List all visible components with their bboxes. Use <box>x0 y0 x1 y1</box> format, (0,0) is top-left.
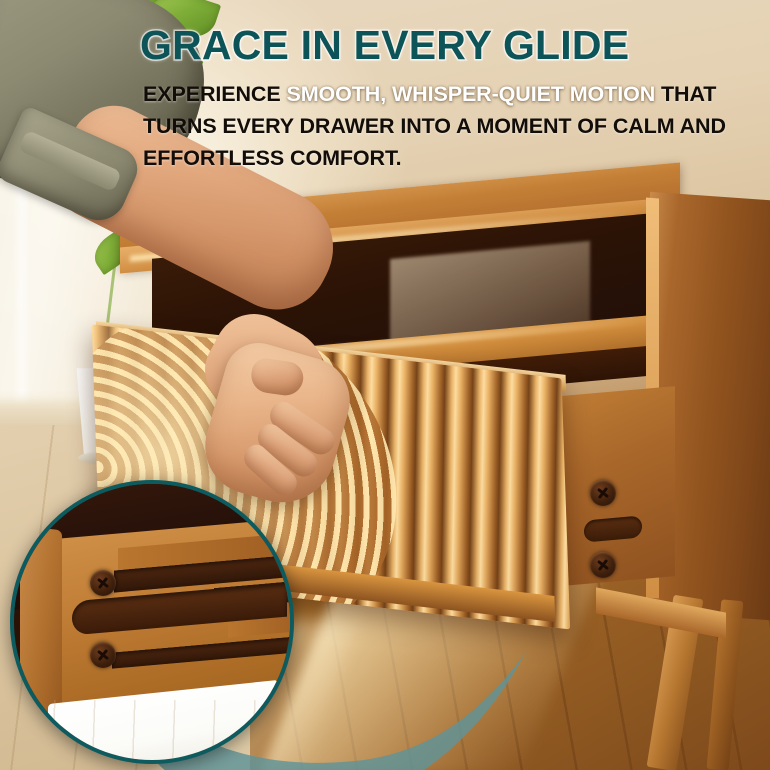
finger-thumb <box>249 357 305 398</box>
subheadline-part1: EXPERIENCE <box>143 82 286 106</box>
subheadline-highlight: SMOOTH, WHISPER-QUIET MOTION <box>286 82 655 106</box>
product-feature-poster: GRACE IN EVERY GLIDE EXPERIENCE SMOOTH, … <box>0 0 770 770</box>
screw-icon <box>590 480 616 506</box>
page-title: GRACE IN EVERY GLIDE <box>140 22 760 69</box>
window-mullion <box>18 160 25 410</box>
inset-floor-lines <box>14 700 290 760</box>
screw-icon <box>590 552 616 578</box>
subheadline: EXPERIENCE SMOOTH, WHISPER-QUIET MOTION … <box>143 78 763 174</box>
screw-icon <box>90 642 116 668</box>
screw-icon <box>90 570 116 596</box>
detail-inset-circle <box>10 480 294 764</box>
